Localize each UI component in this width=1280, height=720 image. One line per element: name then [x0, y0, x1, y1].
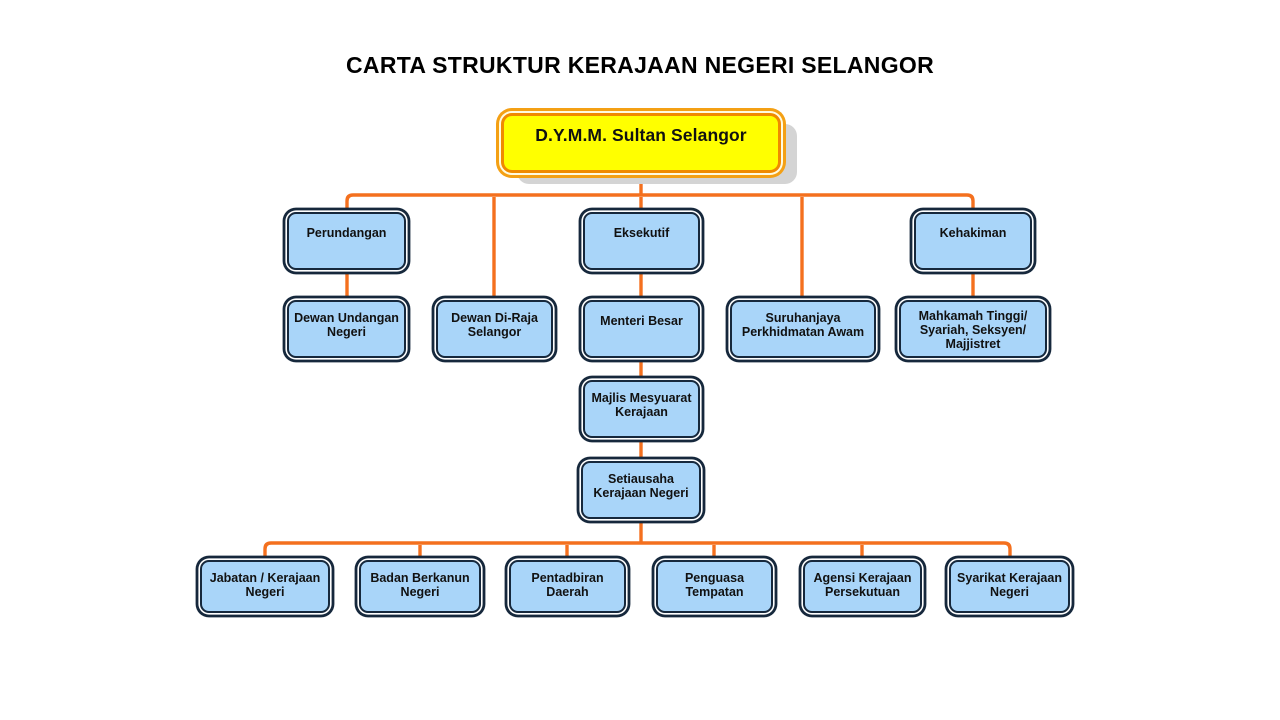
node-dewan-di-raja-selangor[interactable]: Dewan Di-Raja Selangor [436, 300, 553, 358]
node-setiausaha-kerajaan-negeri[interactable]: Setiausaha Kerajaan Negeri [581, 461, 701, 519]
node-label: Suruhanjaya Perkhidmatan Awam [732, 311, 874, 356]
node-pentadbiran-daerah[interactable]: Pentadbiran Daerah [509, 560, 626, 613]
node-suruhanjaya-perkhidmatan-awam[interactable]: Suruhanjaya Perkhidmatan Awam [730, 300, 876, 358]
node-label: D.Y.M.M. Sultan Selangor [504, 126, 778, 170]
connector-bus-level1 [347, 195, 973, 212]
node-badan-berkanun-negeri[interactable]: Badan Berkanun Negeri [359, 560, 481, 613]
node-syarikat-kerajaan-negeri[interactable]: Syarikat Kerajaan Negeri [949, 560, 1070, 613]
node-label: Badan Berkanun Negeri [361, 571, 479, 611]
node-sultan[interactable]: D.Y.M.M. Sultan Selangor [501, 113, 781, 173]
node-majlis-mesyuarat-kerajaan[interactable]: Majlis Mesyuarat Kerajaan [583, 380, 700, 438]
node-label: Perundangan [289, 226, 404, 268]
node-perundangan[interactable]: Perundangan [287, 212, 406, 270]
node-mahkamah-tinggi[interactable]: Mahkamah Tinggi/ Syariah, Seksyen/ Majji… [899, 300, 1047, 358]
node-label: Eksekutif [585, 226, 698, 268]
node-eksekutif[interactable]: Eksekutif [583, 212, 700, 270]
node-label: Menteri Besar [585, 314, 698, 356]
node-label: Mahkamah Tinggi/ Syariah, Seksyen/ Majji… [901, 309, 1045, 356]
org-chart-canvas: CARTA STRUKTUR KERAJAAN NEGERI SELANGOR [0, 0, 1280, 720]
node-label: Syarikat Kerajaan Negeri [951, 571, 1068, 611]
node-label: Kehakiman [916, 226, 1030, 268]
node-label: Penguasa Tempatan [658, 571, 771, 611]
connector-bus-level4 [265, 543, 1010, 560]
node-menteri-besar[interactable]: Menteri Besar [583, 300, 700, 358]
node-label: Agensi Kerajaan Persekutuan [805, 571, 920, 611]
node-jabatan-kerajaan-negeri[interactable]: Jabatan / Kerajaan Negeri [200, 560, 330, 613]
node-dewan-undangan-negeri[interactable]: Dewan Undangan Negeri [287, 300, 406, 358]
connector-lines [0, 0, 1280, 720]
node-label: Dewan Di-Raja Selangor [438, 311, 551, 356]
node-label: Jabatan / Kerajaan Negeri [202, 571, 328, 611]
node-penguasa-tempatan[interactable]: Penguasa Tempatan [656, 560, 773, 613]
node-label: Pentadbiran Daerah [511, 571, 624, 611]
node-agensi-kerajaan-persekutuan[interactable]: Agensi Kerajaan Persekutuan [803, 560, 922, 613]
node-kehakiman[interactable]: Kehakiman [914, 212, 1032, 270]
node-label: Dewan Undangan Negeri [289, 311, 404, 356]
node-label: Majlis Mesyuarat Kerajaan [585, 391, 698, 436]
node-label: Setiausaha Kerajaan Negeri [583, 472, 699, 517]
